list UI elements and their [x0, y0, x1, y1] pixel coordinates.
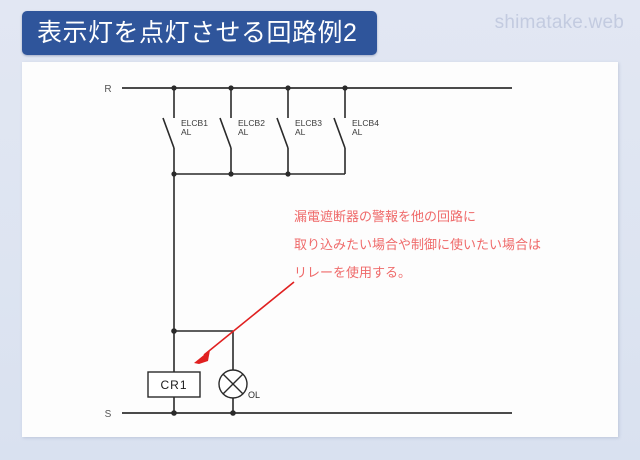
switch-elcb1-top-junction — [171, 85, 176, 90]
page-title-bar: 表示灯を点灯させる回路例2 — [22, 11, 377, 55]
top-rail-label: R — [104, 84, 111, 95]
switch-elcb4: ELCB4 AL — [334, 85, 379, 174]
switch-elcb1-contact: AL — [181, 127, 192, 137]
switch-elcb1: ELCB1 AL — [163, 85, 208, 176]
switch-elcb4-top-junction — [342, 85, 347, 90]
switch-elcb2: ELCB2 AL — [220, 85, 265, 176]
switch-elcb3-contact: AL — [295, 127, 306, 137]
annotation-line-2: 取り込みたい場合や制御に使いたい場合は — [294, 237, 541, 252]
bottom-rail-label: S — [105, 409, 112, 420]
switch-elcb3: ELCB3 AL — [277, 85, 322, 176]
lamp-label: OL — [248, 390, 260, 400]
switch-elcb2-top-junction — [228, 85, 233, 90]
annotation-arrow-shaft — [204, 282, 294, 355]
page-root: 表示灯を点灯させる回路例2 shimatake.web R S ELCB1 AL — [0, 0, 640, 460]
switch-elcb3-blade — [277, 118, 288, 148]
relay-bottom-junction — [171, 410, 177, 416]
switch-elcb4-blade — [334, 118, 345, 148]
switch-elcb4-contact: AL — [352, 127, 363, 137]
lamp-symbol — [219, 370, 247, 398]
switch-elcb1-blade — [163, 118, 174, 148]
switch-elcb2-bottom-junction — [228, 171, 233, 176]
annotation-line-3: リレーを使用する。 — [294, 265, 411, 280]
switch-elcb2-blade — [220, 118, 231, 148]
lamp-bottom-junction — [230, 410, 236, 416]
page-title: 表示灯を点灯させる回路例2 — [37, 21, 357, 46]
annotation-line-1: 漏電遮断器の警報を他の回路に — [294, 209, 476, 224]
switch-elcb3-bottom-junction — [285, 171, 290, 176]
annotation-arrow-head — [194, 350, 210, 364]
switch-elcb3-top-junction — [285, 85, 290, 90]
relay-coil-label: CR1 — [160, 378, 187, 392]
diagram-panel: R S ELCB1 AL — [22, 62, 618, 437]
annotation-arrow — [194, 282, 294, 364]
circuit-diagram: R S ELCB1 AL — [22, 62, 618, 437]
site-watermark: shimatake.web — [495, 12, 624, 34]
annotation-text: 漏電遮断器の警報を他の回路に 取り込みたい場合や制御に使いたい場合は リレーを使… — [294, 209, 541, 280]
switch-elcb2-contact: AL — [238, 127, 249, 137]
